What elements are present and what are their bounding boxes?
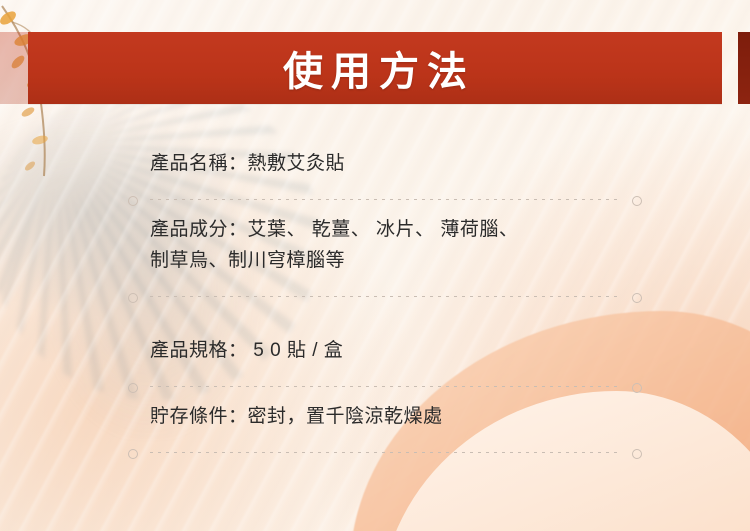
document-page: 使用方法 產品名稱：熱敷艾灸貼 產品成分：艾葉、 乾薑、 冰片、 薄荷腦、 制草… [0, 0, 750, 531]
divider-dot-left-icon [128, 383, 138, 393]
divider [150, 199, 620, 200]
divider [150, 386, 620, 387]
divider-dot-right-icon [632, 293, 642, 303]
divider [150, 452, 620, 453]
list-item: 貯存條件：密封，置千陰涼乾燥處 [150, 401, 620, 438]
divider-dot-right-icon [632, 383, 642, 393]
list-item: 產品名稱：熱敷艾灸貼 [150, 148, 620, 185]
divider-dot-left-icon [128, 449, 138, 459]
divider-dot-left-icon [128, 293, 138, 303]
product-ingredients-text: 產品成分：艾葉、 乾薑、 冰片、 薄荷腦、 制草烏、制川穹樟腦等 [150, 214, 620, 276]
divider [150, 296, 620, 297]
divider-dot-right-icon [632, 449, 642, 459]
divider-dot-left-icon [128, 196, 138, 206]
product-name-text: 產品名稱：熱敷艾灸貼 [150, 148, 620, 179]
product-spec-text: 產品規格： 5 0 貼 / 盒 [150, 335, 620, 366]
banner-right-edge [738, 32, 750, 104]
header-banner: 使用方法 [28, 32, 722, 104]
banner-left-shadow [0, 32, 28, 104]
spacer [150, 311, 620, 335]
page-title: 使用方法 [275, 39, 475, 97]
usage-info-list: 產品名稱：熱敷艾灸貼 產品成分：艾葉、 乾薑、 冰片、 薄荷腦、 制草烏、制川穹… [150, 148, 620, 467]
list-item: 產品規格： 5 0 貼 / 盒 [150, 335, 620, 372]
storage-condition-text: 貯存條件：密封，置千陰涼乾燥處 [150, 401, 620, 432]
list-item: 產品成分：艾葉、 乾薑、 冰片、 薄荷腦、 制草烏、制川穹樟腦等 [150, 214, 620, 282]
divider-dot-right-icon [632, 196, 642, 206]
